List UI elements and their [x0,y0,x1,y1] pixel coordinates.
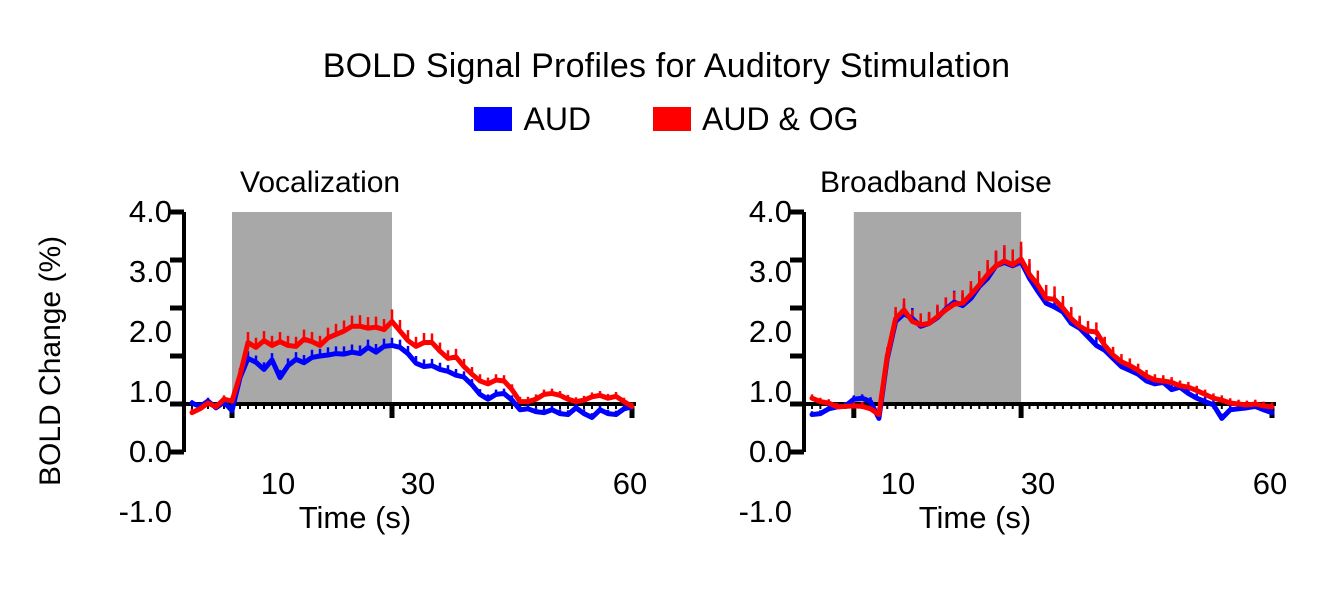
figure-root: BOLD Signal Profiles for Auditory Stimul… [0,0,1333,606]
plot-area-broadband-noise [620,0,1333,606]
plot-area-vocalization [0,0,690,606]
stimulus-shade [232,212,392,404]
panel-broadband-noise: Broadband Noise 4.0 3.0 2.0 1.0 0.0 -1.0… [620,0,1333,606]
panel-vocalization: Vocalization BOLD Change (%) 4.0 3.0 2.0… [0,0,690,606]
